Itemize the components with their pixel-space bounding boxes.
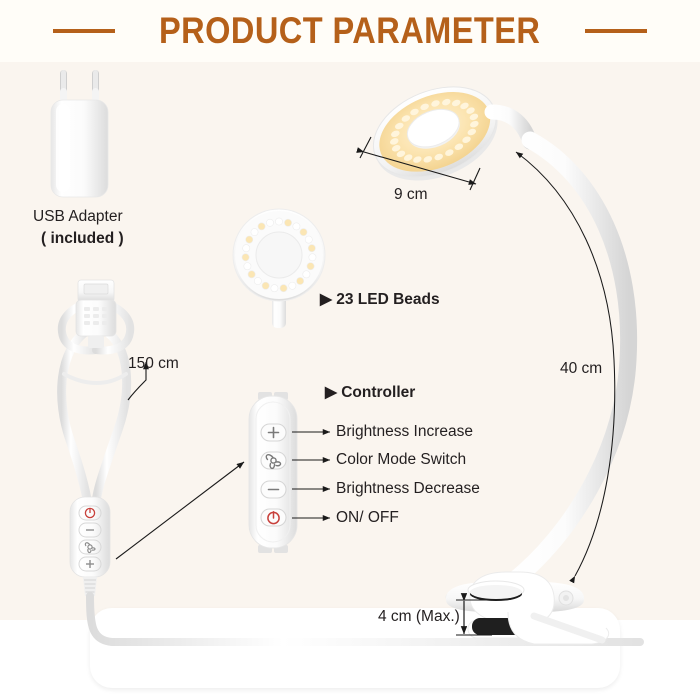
controller-heading: ▶ Controller — [325, 383, 415, 402]
led-beads-bullet: ▶ — [320, 291, 332, 308]
controller-button-leaders — [292, 432, 330, 518]
led-beads-label: ▶ 23 LED Beads — [320, 290, 440, 309]
usb-cable-icon — [62, 280, 131, 505]
inline-controller-icon — [249, 392, 297, 553]
usb-adapter-label: USB Adapter — [33, 208, 123, 226]
ring-light-lit-icon — [360, 70, 511, 198]
lamp-diameter-label: 9 cm — [394, 186, 428, 204]
cable-length-label: 150 cm — [128, 355, 179, 373]
ring-light-unlit-icon — [233, 209, 325, 328]
controller-heading-text: Controller — [341, 384, 415, 401]
controller-callout-leader — [116, 462, 244, 559]
usb-adapter-included-label: ( included ) — [41, 230, 124, 248]
controller-label-color-mode-switch: Color Mode Switch — [336, 451, 466, 469]
artwork — [0, 0, 700, 700]
led-beads-text: 23 LED Beads — [336, 291, 439, 308]
controller-bullet: ▶ — [325, 384, 337, 401]
controller-label-brightness-increase: Brightness Increase — [336, 423, 473, 441]
desk-clamp-icon — [446, 572, 609, 644]
usb-adapter-icon — [51, 70, 108, 197]
controller-label-brightness-decrease: Brightness Decrease — [336, 480, 480, 498]
controller-label-on-off: ON/ OFF — [336, 509, 399, 527]
gooseneck-length-label: 40 cm — [560, 360, 602, 378]
product-parameter-infographic: PRODUCT PARAMETER — [0, 0, 700, 700]
clamp-opening-label: 4 cm (Max.) — [378, 608, 460, 626]
